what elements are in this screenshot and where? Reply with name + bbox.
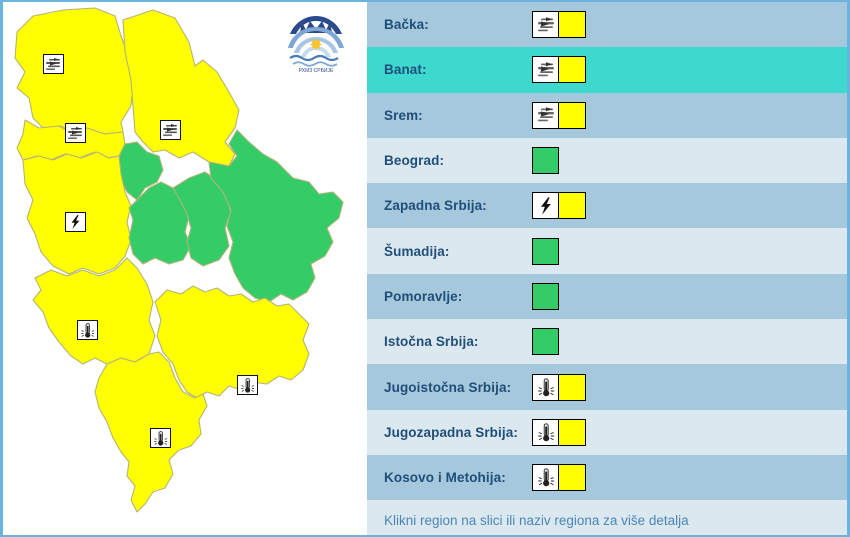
- high-temp-icon: [239, 377, 256, 394]
- thunderstorm-icon: [536, 196, 556, 216]
- region-badges-zapadna-srbija: [532, 192, 586, 219]
- region-badges-kosovo-i-metohija: [532, 464, 586, 491]
- hint-row: Klikni region na slici ili naziv regiona…: [367, 500, 847, 535]
- map-marker-kosovo-i-metohija[interactable]: [150, 428, 171, 448]
- region-badges-beograd: [532, 147, 559, 174]
- fog-icon: [536, 61, 556, 79]
- map-region-backa[interactable]: [15, 8, 133, 134]
- fog-icon: [536, 106, 556, 124]
- warning-badge-yellow-level[interactable]: [559, 11, 586, 38]
- region-row-beograd[interactable]: Beograd:: [367, 138, 847, 183]
- logo-caption: РХМЗ СРБИЈЕ: [299, 68, 334, 74]
- region-label-jugoistocna-srbija[interactable]: Jugoistočna Srbija:: [384, 380, 532, 395]
- region-row-pomoravlje[interactable]: Pomoravlje:: [367, 274, 847, 319]
- warning-badge-high-temp[interactable]: [532, 374, 559, 401]
- region-badges-jugozapadna-srbija: [532, 419, 586, 446]
- map-marker-zapadna-srbija[interactable]: [65, 212, 86, 232]
- warning-badge-yellow-level[interactable]: [559, 419, 586, 446]
- warning-badge-yellow-level[interactable]: [559, 464, 586, 491]
- map-panel[interactable]: РХМЗ СРБИЈЕ: [0, 0, 367, 537]
- high-temp-icon: [536, 422, 556, 443]
- map-region-jugoistocna-srbija[interactable]: [155, 286, 309, 398]
- warning-badge-yellow-level[interactable]: [559, 56, 586, 83]
- warning-badge-fog[interactable]: [532, 56, 559, 83]
- fog-icon: [67, 126, 84, 141]
- thunderstorm-icon: [67, 214, 84, 230]
- region-row-backa[interactable]: Bačka:: [367, 2, 847, 47]
- region-row-zapadna-srbija[interactable]: Zapadna Srbija:: [367, 183, 847, 228]
- warning-badge-high-temp[interactable]: [532, 419, 559, 446]
- region-badges-sumadija: [532, 238, 559, 265]
- warning-badge-thunderstorm[interactable]: [532, 192, 559, 219]
- map-marker-banat[interactable]: [160, 120, 181, 140]
- region-badges-banat: [532, 56, 586, 83]
- warning-badge-high-temp[interactable]: [532, 464, 559, 491]
- meteoalarm-page: РХМЗ СРБИЈЕ: [0, 0, 850, 537]
- region-row-banat[interactable]: Banat:: [367, 47, 847, 92]
- region-label-jugozapadna-srbija[interactable]: Jugozapadna Srbija:: [384, 425, 532, 440]
- warning-badge-fog[interactable]: [532, 102, 559, 129]
- region-row-jugozapadna-srbija[interactable]: Jugozapadna Srbija:: [367, 410, 847, 455]
- map-marker-jugozapadna-srbija[interactable]: [77, 320, 98, 340]
- high-temp-icon: [536, 377, 556, 398]
- region-badges-backa: [532, 11, 586, 38]
- map-marker-backa[interactable]: [43, 54, 64, 74]
- region-label-sumadija[interactable]: Šumadija:: [384, 244, 532, 259]
- region-badges-istocna-srbija: [532, 328, 559, 355]
- region-label-zapadna-srbija[interactable]: Zapadna Srbija:: [384, 198, 532, 213]
- hint-text: Klikni region na slici ili naziv regiona…: [384, 513, 689, 528]
- region-badges-jugoistocna-srbija: [532, 374, 586, 401]
- rhmz-srbije-logo: РХМЗ СРБИЈЕ: [280, 8, 352, 80]
- region-label-kosovo-i-metohija[interactable]: Kosovo i Metohija:: [384, 470, 532, 485]
- warning-badge-green-level[interactable]: [532, 328, 559, 355]
- warning-badge-fog[interactable]: [532, 11, 559, 38]
- fog-icon: [162, 123, 179, 138]
- region-row-istocna-srbija[interactable]: Istočna Srbija:: [367, 319, 847, 364]
- region-label-srem[interactable]: Srem:: [384, 108, 532, 123]
- map-marker-srem[interactable]: [65, 123, 86, 143]
- region-label-beograd[interactable]: Beograd:: [384, 153, 532, 168]
- high-temp-icon: [152, 430, 169, 447]
- warning-badge-green-level[interactable]: [532, 147, 559, 174]
- warning-badge-yellow-level[interactable]: [559, 374, 586, 401]
- region-label-backa[interactable]: Bačka:: [384, 17, 532, 32]
- warning-badge-yellow-level[interactable]: [559, 192, 586, 219]
- region-badges-pomoravlje: [532, 283, 559, 310]
- fog-icon: [45, 57, 62, 72]
- region-list-panel: Bačka:: [367, 0, 850, 537]
- map-region-jugozapadna-srbija[interactable]: [33, 258, 155, 364]
- region-row-sumadija[interactable]: Šumadija:: [367, 228, 847, 273]
- region-label-istocna-srbija[interactable]: Istočna Srbija:: [384, 334, 532, 349]
- fog-icon: [536, 16, 556, 34]
- high-temp-icon: [536, 467, 556, 488]
- warning-badge-green-level[interactable]: [532, 283, 559, 310]
- region-label-banat[interactable]: Banat:: [384, 62, 532, 77]
- map-region-banat[interactable]: [123, 10, 239, 166]
- region-badges-srem: [532, 102, 586, 129]
- region-row-kosovo-i-metohija[interactable]: Kosovo i Metohija:: [367, 455, 847, 500]
- map-marker-jugoistocna-srbija[interactable]: [237, 375, 258, 395]
- high-temp-icon: [79, 322, 96, 339]
- region-row-srem[interactable]: Srem:: [367, 93, 847, 138]
- serbia-map-svg[interactable]: [3, 2, 367, 535]
- region-label-pomoravlje[interactable]: Pomoravlje:: [384, 289, 532, 304]
- region-row-jugoistocna-srbija[interactable]: Jugoistočna Srbija:: [367, 364, 847, 409]
- warning-badge-green-level[interactable]: [532, 238, 559, 265]
- warning-badge-yellow-level[interactable]: [559, 102, 586, 129]
